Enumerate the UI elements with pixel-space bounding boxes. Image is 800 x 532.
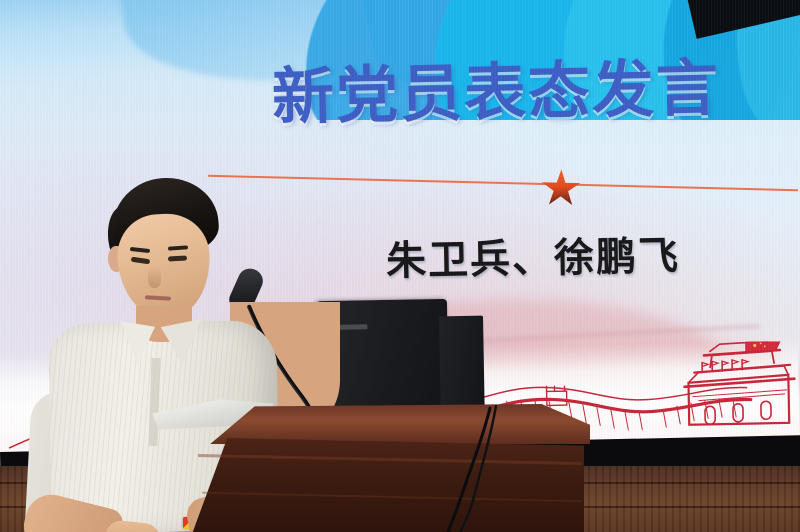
eye-right bbox=[168, 256, 187, 262]
slide-subtitle: 朱卫兵、徐鹏飞 bbox=[386, 223, 681, 286]
slide-title: 新党员表态发言 bbox=[271, 57, 792, 130]
face bbox=[115, 212, 212, 321]
presentation-photo: 新党员表态发言 朱卫兵、徐鹏飞 bbox=[0, 0, 800, 532]
audio-cable bbox=[430, 400, 650, 532]
china-flag-icon bbox=[746, 341, 780, 352]
nose bbox=[148, 266, 161, 288]
tiananmen-gate-line-art bbox=[684, 341, 796, 425]
